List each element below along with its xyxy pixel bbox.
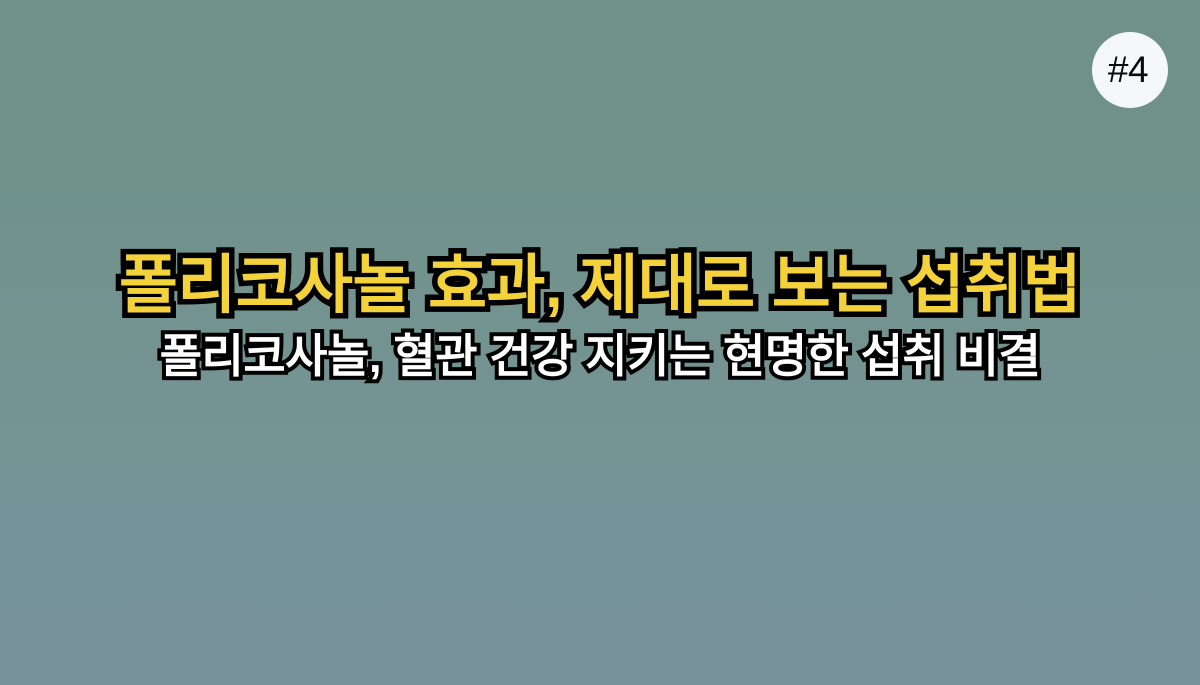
number-badge-label: #4 — [1108, 51, 1148, 88]
number-badge: #4 — [1092, 32, 1168, 108]
title-text-block: 폴리코사놀 효과, 제대로 보는 섭취법 폴리코사놀, 혈관 건강 지키는 현명… — [0, 252, 1200, 382]
subheadline-text: 폴리코사놀, 혈관 건강 지키는 현명한 섭취 비결 — [0, 332, 1200, 382]
headline-title: 폴리코사놀 효과, 제대로 보는 섭취법 — [0, 252, 1200, 320]
title-card-slide: #4 폴리코사놀 효과, 제대로 보는 섭취법 폴리코사놀, 혈관 건강 지키는… — [0, 0, 1200, 685]
